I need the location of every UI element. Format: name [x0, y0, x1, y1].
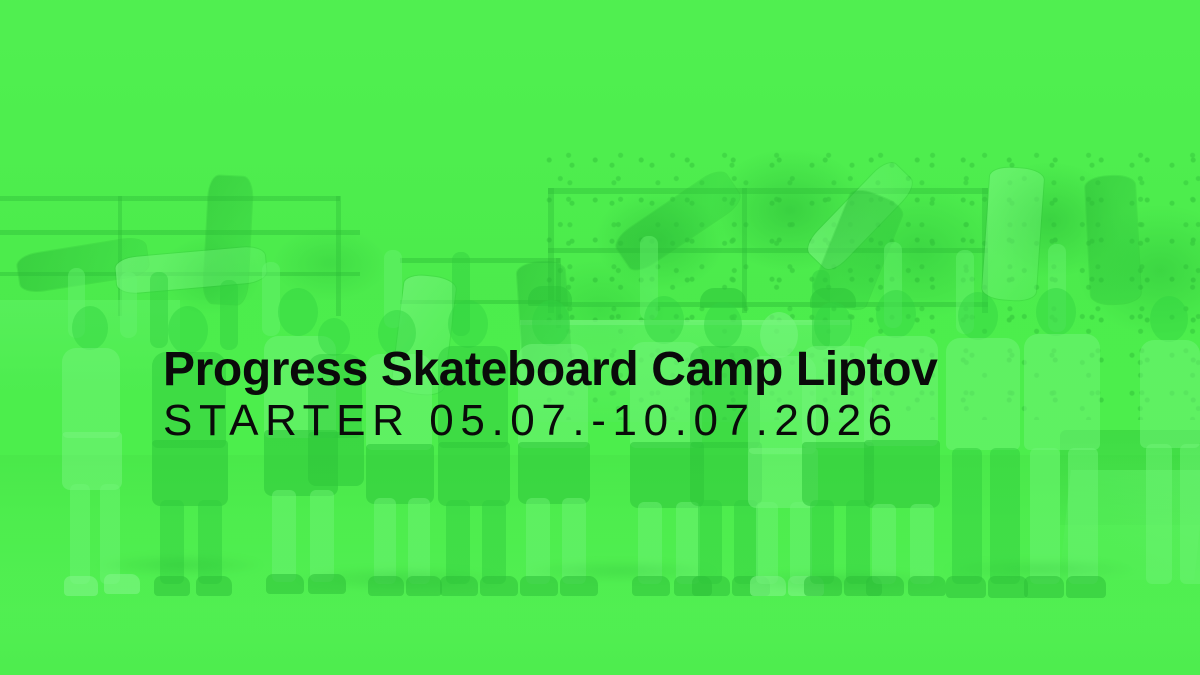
banner-canvas: Progress Skateboard Camp Liptov STARTER … — [0, 0, 1200, 675]
background-photo — [0, 0, 1200, 675]
event-session-and-dates: STARTER 05.07.-10.07.2026 — [163, 395, 1063, 447]
banner-text-block: Progress Skateboard Camp Liptov STARTER … — [163, 344, 1063, 447]
green-gradient-overlay — [0, 0, 1200, 675]
event-title: Progress Skateboard Camp Liptov — [163, 344, 1063, 395]
